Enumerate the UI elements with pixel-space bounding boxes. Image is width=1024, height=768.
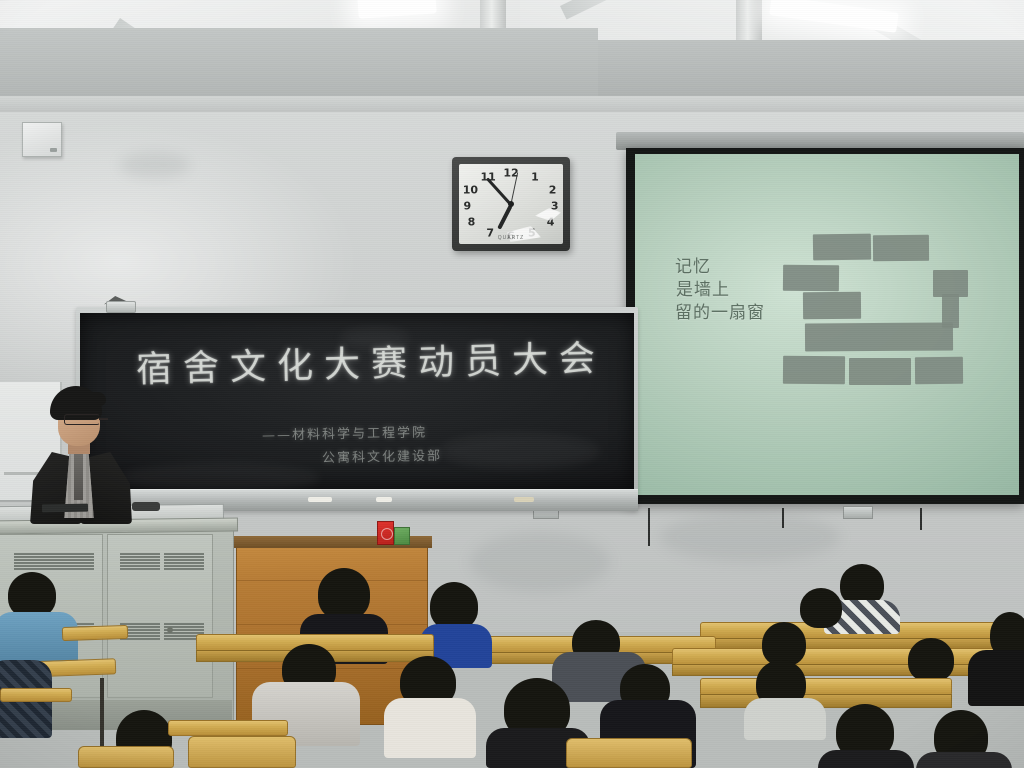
- eyeglasses-icon: [64, 414, 100, 425]
- student-torso: [916, 752, 1012, 768]
- ceiling-soffit-left: [0, 28, 598, 106]
- chalk-dust: [440, 433, 600, 469]
- papers-on-lectern: [42, 504, 88, 513]
- student-head: [318, 568, 370, 620]
- brick: [805, 322, 953, 351]
- cabinet-vent: [54, 553, 94, 555]
- clock-center-pin: [508, 201, 514, 207]
- chalk-dust: [120, 463, 320, 489]
- red-chalk-box[interactable]: [377, 521, 394, 545]
- desk-apron: [700, 694, 952, 708]
- clock-numeral: 7: [486, 226, 494, 239]
- brick: [873, 235, 929, 261]
- chalk-piece: [308, 497, 332, 502]
- clock-numeral: 10: [463, 184, 478, 197]
- wall-mark: [120, 152, 190, 178]
- clock-face: 12 1 2 3 4 5 6 7 8 9 10 11 QUARTZ: [459, 164, 563, 244]
- clock-numeral: 8: [468, 215, 476, 228]
- student-torso: [968, 650, 1024, 706]
- ceiling: [0, 0, 1024, 118]
- clock-hour-hand: [498, 205, 513, 230]
- student-head: [908, 638, 954, 682]
- clock-numeral: 2: [549, 184, 557, 197]
- desk-row: [62, 625, 128, 641]
- wall-plate: [843, 506, 873, 519]
- student-torso-white: [384, 698, 476, 758]
- chair-back: [188, 736, 296, 768]
- chair-back: [566, 738, 692, 768]
- wall-mounted-speaker-box-icon: [22, 122, 62, 157]
- blackboard-clip: [106, 301, 136, 313]
- lecture-hall-photo: 记忆 是墙上 留的一扇窗: [0, 0, 1024, 768]
- lecturer-tie: [74, 452, 83, 500]
- seated-students-area: [0, 560, 1024, 768]
- slide-poem-text: 记忆 是墙上 留的一扇窗: [675, 256, 765, 325]
- projector-screen[interactable]: 记忆 是墙上 留的一扇窗: [626, 148, 1024, 504]
- cabinet-vent: [120, 553, 160, 555]
- brick: [933, 270, 968, 297]
- blackboard-subtitle-2: 公寓科文化建设部: [322, 445, 442, 466]
- hanging-cord: [782, 508, 784, 528]
- desk-row: [0, 688, 72, 702]
- chalk-piece: [514, 497, 534, 502]
- blackboard-surface: 宿舍文化大赛动员大会 ——材料科学与工程学院 公寓科文化建设部: [80, 313, 634, 489]
- cabinet-vent: [14, 553, 54, 555]
- wall-mark: [660, 512, 840, 562]
- projected-slide: 记忆 是墙上 留的一扇窗: [635, 154, 1019, 495]
- cabinet-vent: [164, 553, 204, 555]
- student-head: [800, 588, 842, 628]
- slide-line-3: 留的一扇窗: [675, 302, 765, 325]
- blackboard: 宿舍文化大赛动员大会 ——材料科学与工程学院 公寓科文化建设部: [76, 307, 638, 511]
- slide-line-2: 是墙上: [676, 279, 765, 302]
- desk-leg: [100, 678, 104, 752]
- brick: [783, 356, 845, 385]
- chalk-piece: [376, 497, 392, 502]
- blackboard-title: 宿舍文化大赛动员大会: [135, 329, 606, 392]
- hanging-cord: [648, 508, 650, 546]
- blackboard-subtitle-1: ——材料科学与工程学院: [262, 421, 427, 443]
- clock-numeral: 9: [463, 199, 471, 212]
- hanging-cord: [920, 508, 922, 530]
- microphone-icon: [132, 502, 160, 511]
- desk-row: [168, 720, 288, 736]
- slide-brick-wall-graphic: [785, 234, 1005, 424]
- clock-numeral: 1: [531, 170, 539, 183]
- chair-back: [78, 746, 174, 768]
- brick: [915, 357, 963, 384]
- slide-line-1: 记忆: [675, 256, 765, 279]
- student-head: [430, 582, 478, 630]
- student-torso: [818, 750, 914, 768]
- green-box[interactable]: [394, 527, 410, 545]
- clock-brand-text: QUARTZ: [498, 235, 524, 241]
- brick: [813, 234, 871, 261]
- brick: [849, 358, 911, 385]
- brick: [803, 292, 861, 320]
- wall-clock: 12 1 2 3 4 5 6 7 8 9 10 11 QUARTZ: [452, 157, 570, 251]
- brick: [783, 265, 839, 292]
- student-torso-grey: [744, 698, 826, 740]
